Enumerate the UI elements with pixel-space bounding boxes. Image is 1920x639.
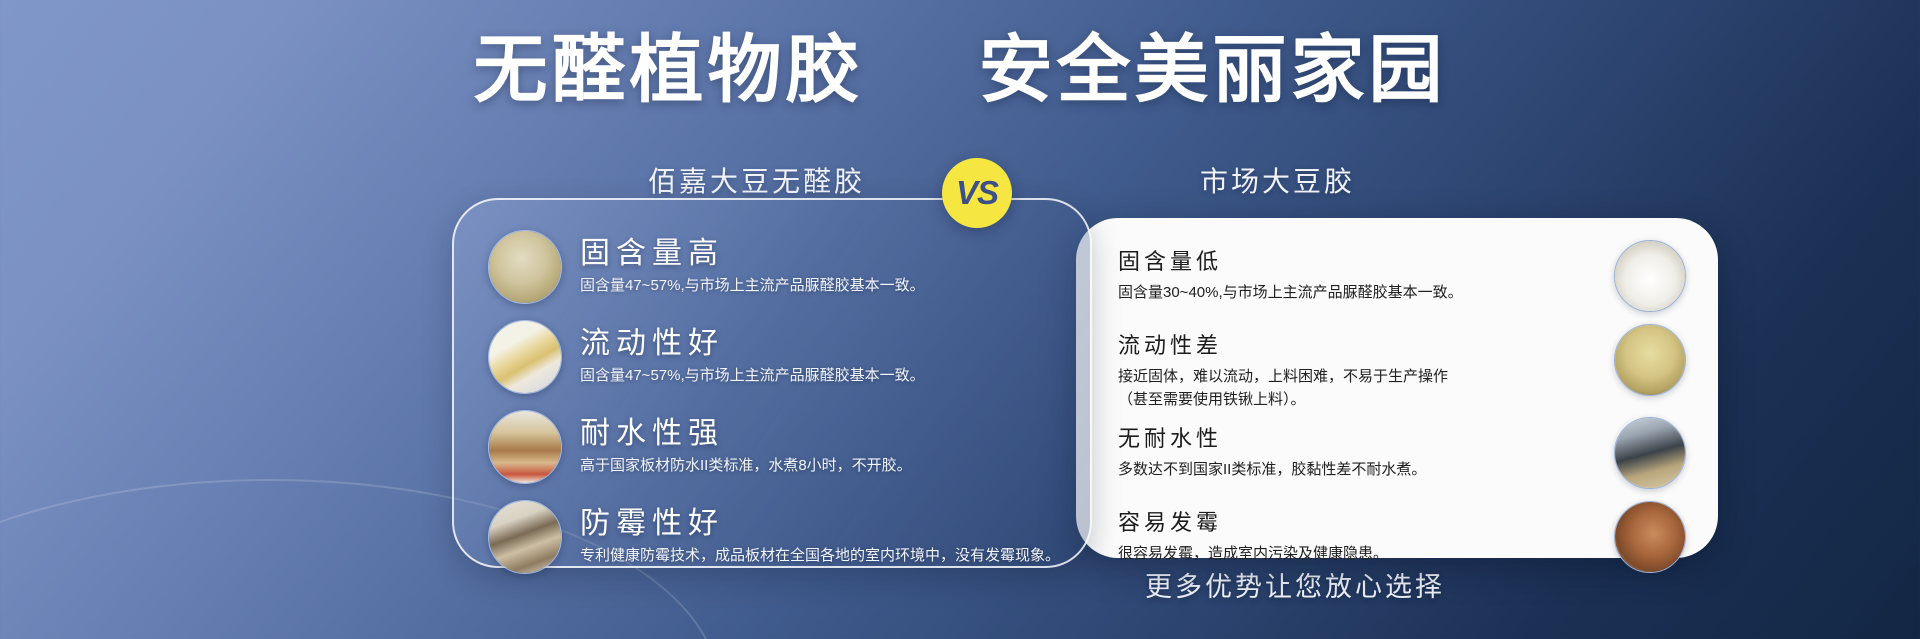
list-item: 流动性差 接近固体，难以流动，上料困难，不易于生产操作 （甚至需要使用铁锹上料）… — [1118, 328, 1684, 411]
feature-description: 专利健康防霉技术，成品板材在全国各地的室内环境中，没有发霉现象。 — [580, 545, 1090, 567]
feature-title: 耐水性强 — [580, 408, 1090, 452]
feature-description: 固含量30~40%,与市场上主流产品脲醛胶基本一致。 — [1118, 282, 1518, 305]
vs-badge-label: VS — [956, 174, 998, 212]
feature-title: 容易发霉 — [1118, 505, 1684, 537]
list-item: 固含量低 固含量30~40%,与市场上主流产品脲醛胶基本一致。 — [1118, 244, 1684, 318]
market-product-card: 固含量低 固含量30~40%,与市场上主流产品脲醛胶基本一致。 流动性差 接近固… — [1076, 218, 1718, 558]
list-item: 固含量高 固含量47~57%,与市场上主流产品脲醛胶基本一致。 — [488, 228, 1090, 308]
feature-title: 固含量低 — [1118, 244, 1684, 276]
own-product-card: 固含量高 固含量47~57%,与市场上主流产品脲醛胶基本一致。 流动性好 固含量… — [452, 198, 1092, 568]
caption-market-product: 市场大豆胶 — [1200, 160, 1355, 200]
vs-badge: VS — [942, 158, 1012, 228]
plywood-stack-photo — [488, 500, 562, 574]
headline-part-2: 安全美丽家园 — [979, 28, 1447, 111]
list-item: 耐水性强 高于国家板材防水II类标准，水煮8小时，不开胶。 — [488, 408, 1090, 488]
feature-description: 固含量47~57%,与市场上主流产品脲醛胶基本一致。 — [580, 365, 1090, 387]
feature-title: 防霉性好 — [580, 498, 1090, 542]
feature-title: 流动性差 — [1118, 328, 1684, 360]
moldy-board-photo — [1614, 501, 1686, 573]
feature-description: 很容易发霉，造成室内污染及健康隐患。 — [1118, 543, 1518, 566]
feature-title: 流动性好 — [580, 318, 1090, 362]
promo-banner: 无醛植物胶 安全美丽家园 佰嘉大豆无醛胶 市场大豆胶 VS 固含量低 固含量30… — [0, 0, 1920, 639]
list-item: 无耐水性 多数达不到国家II类标准，胶黏性差不耐水煮。 — [1118, 421, 1684, 495]
feature-title: 固含量高 — [580, 228, 1090, 272]
list-item: 防霉性好 专利健康防霉技术，成品板材在全国各地的室内环境中，没有发霉现象。 — [488, 498, 1090, 578]
dry-powder-glue-photo — [1614, 324, 1686, 396]
feature-description: 多数达不到国家II类标准，胶黏性差不耐水煮。 — [1118, 459, 1518, 482]
soy-glue-paste-photo — [488, 230, 562, 304]
list-item: 流动性好 固含量47~57%,与市场上主流产品脲醛胶基本一致。 — [488, 318, 1090, 398]
list-item: 容易发霉 很容易发霉，造成室内污染及健康隐患。 — [1118, 505, 1684, 579]
caption-own-product: 佰嘉大豆无醛胶 — [648, 160, 865, 200]
feature-title: 无耐水性 — [1118, 421, 1684, 453]
headline-part-1: 无醛植物胶 — [473, 28, 863, 111]
feature-description: 接近固体，难以流动，上料困难，不易于生产操作 （甚至需要使用铁锹上料）。 — [1118, 366, 1518, 411]
feature-description: 高于国家板材防水II类标准，水煮8小时，不开胶。 — [580, 455, 1090, 477]
feature-description: 固含量47~57%,与市场上主流产品脲醛胶基本一致。 — [580, 275, 1090, 297]
boiled-board-photo — [488, 410, 562, 484]
testing-machine-photo — [1614, 417, 1686, 489]
market-feature-list: 固含量低 固含量30~40%,与市场上主流产品脲醛胶基本一致。 流动性差 接近固… — [1076, 218, 1718, 579]
glue-pouring-photo — [488, 320, 562, 394]
page-title: 无醛植物胶 安全美丽家园 — [0, 30, 1920, 110]
own-feature-list: 固含量高 固含量47~57%,与市场上主流产品脲醛胶基本一致。 流动性好 固含量… — [454, 200, 1090, 578]
white-glue-bucket-photo — [1614, 240, 1686, 312]
